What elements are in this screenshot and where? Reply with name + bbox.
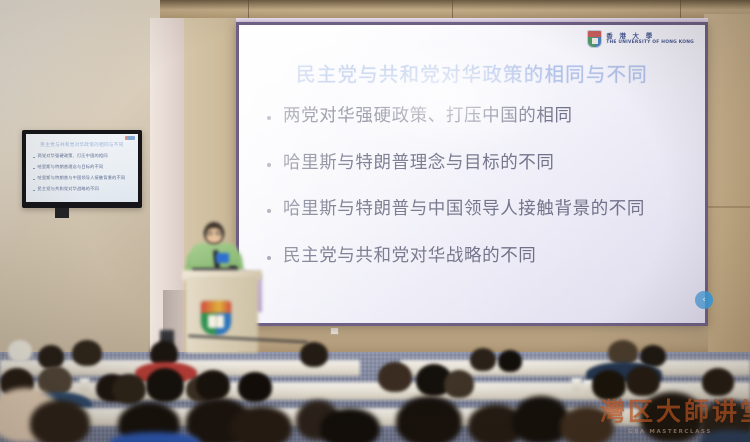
- watermark-chinese: 灣区大師讲堂: [600, 392, 740, 428]
- speaker-glasses-icon: [205, 231, 223, 235]
- watermark: 灣区大師讲堂 GBA MASTERCLASS: [600, 392, 740, 436]
- side-monitor: 民主党与共和党对华政策的相同与不同 两党对华强硬政策、打压中国的相同 哈里斯与特…: [22, 130, 142, 208]
- bullet-dot-icon: [33, 179, 35, 181]
- list-item: 哈里斯与特朗普理念与目标的不同: [33, 165, 134, 170]
- slide-previous-button[interactable]: ‹: [695, 291, 713, 309]
- audience-head: [8, 340, 32, 362]
- watermark-english: GBA MASTERCLASS: [600, 429, 740, 435]
- bullet-dot-icon: [267, 163, 271, 167]
- presentation-slide: 香 港 大 學 THE UNIVERSITY OF HONG KONG 民主党与…: [239, 25, 705, 323]
- hku-crest-icon: [201, 301, 231, 335]
- bullet-dot-icon: [267, 209, 271, 213]
- audience-head: [230, 406, 292, 442]
- side-monitor-bullets: 两党对华强硬政策、打压中国的相同 哈里斯与特朗普理念与目标的不同 哈里斯与特朗普…: [33, 154, 134, 198]
- bullet-text: 哈里斯与特朗普理念与目标的不同: [38, 165, 104, 170]
- audience-head: [396, 396, 462, 442]
- bullet-dot-icon: [33, 157, 35, 159]
- audience-head: [378, 362, 412, 392]
- lecture-hall-scene: 香 港 大 學 THE UNIVERSITY OF HONG KONG 民主党与…: [0, 0, 750, 442]
- side-monitor-screen: 民主党与共和党对华政策的相同与不同 两党对华强硬政策、打压中国的相同 哈里斯与特…: [26, 134, 138, 202]
- list-item: 哈里斯与特朗普与中国领导人接触背景的不同: [33, 176, 134, 181]
- bullet-dot-icon: [33, 168, 35, 170]
- audience-head: [238, 372, 272, 402]
- bullet-text: 两党对华强硬政策、打压中国的相同: [38, 154, 108, 159]
- audience-head: [196, 370, 230, 400]
- bullet-text: 哈里斯与特朗普理念与目标的不同: [283, 152, 555, 176]
- list-item: 哈里斯与特朗普与中国领导人接触背景的不同: [267, 198, 691, 222]
- hku-logo-icon: [125, 136, 135, 140]
- bullet-text: 哈里斯与特朗普与中国领导人接触背景的不同: [283, 198, 645, 222]
- list-item: 两党对华强硬政策、打压中国的相同: [33, 154, 134, 159]
- list-item: 两党对华强硬政策、打压中国的相同: [267, 105, 691, 129]
- audience-head: [146, 368, 184, 402]
- bullet-text: 两党对华强硬政策、打压中国的相同: [283, 105, 573, 129]
- audience-head: [320, 408, 380, 442]
- bullet-dot-icon: [267, 256, 271, 260]
- bullet-text: 哈里斯与特朗普与中国领导人接触背景的不同: [38, 176, 126, 181]
- slide-title: 民主党与共和党对华政策的相同与不同: [239, 58, 705, 87]
- list-item: 哈里斯与特朗普理念与目标的不同: [267, 152, 691, 176]
- audience-head: [444, 370, 474, 398]
- wall-outlet: [330, 327, 339, 335]
- audience-head: [498, 350, 522, 372]
- bullet-text: 民主党与共和党对华战略的不同: [38, 187, 99, 192]
- audience-head: [470, 348, 496, 371]
- audience-head: [112, 374, 146, 404]
- list-item: 民主党与共和党对华战略的不同: [267, 245, 691, 269]
- hku-logo-chinese: 香 港 大 學: [606, 33, 694, 40]
- bullet-dot-icon: [267, 116, 271, 120]
- audience-head: [30, 400, 90, 442]
- bullet-dot-icon: [33, 190, 35, 192]
- monitor-stand: [55, 208, 69, 218]
- wall-seam: [704, 206, 750, 208]
- list-item: 民主党与共和党对华战略的不同: [33, 187, 134, 192]
- projection-screen: 香 港 大 學 THE UNIVERSITY OF HONG KONG 民主党与…: [239, 25, 705, 323]
- audience-head: [72, 340, 102, 366]
- audience-head: [300, 342, 328, 367]
- coffee-cup: [572, 380, 581, 392]
- hku-logo: 香 港 大 學 THE UNIVERSITY OF HONG KONG: [587, 30, 694, 48]
- side-monitor-title: 民主党与共和党对华政策的相同与不同: [26, 142, 138, 148]
- coffee-cup: [80, 380, 89, 392]
- microphone-flag: [216, 253, 229, 263]
- hku-crest-icon: [587, 30, 602, 48]
- hku-logo-english: THE UNIVERSITY OF HONG KONG: [606, 41, 694, 45]
- slide-bullet-list: 两党对华强硬政策、打压中国的相同 哈里斯与特朗普理念与目标的不同 哈里斯与特朗普…: [267, 105, 691, 292]
- bullet-text: 民主党与共和党对华战略的不同: [283, 245, 536, 269]
